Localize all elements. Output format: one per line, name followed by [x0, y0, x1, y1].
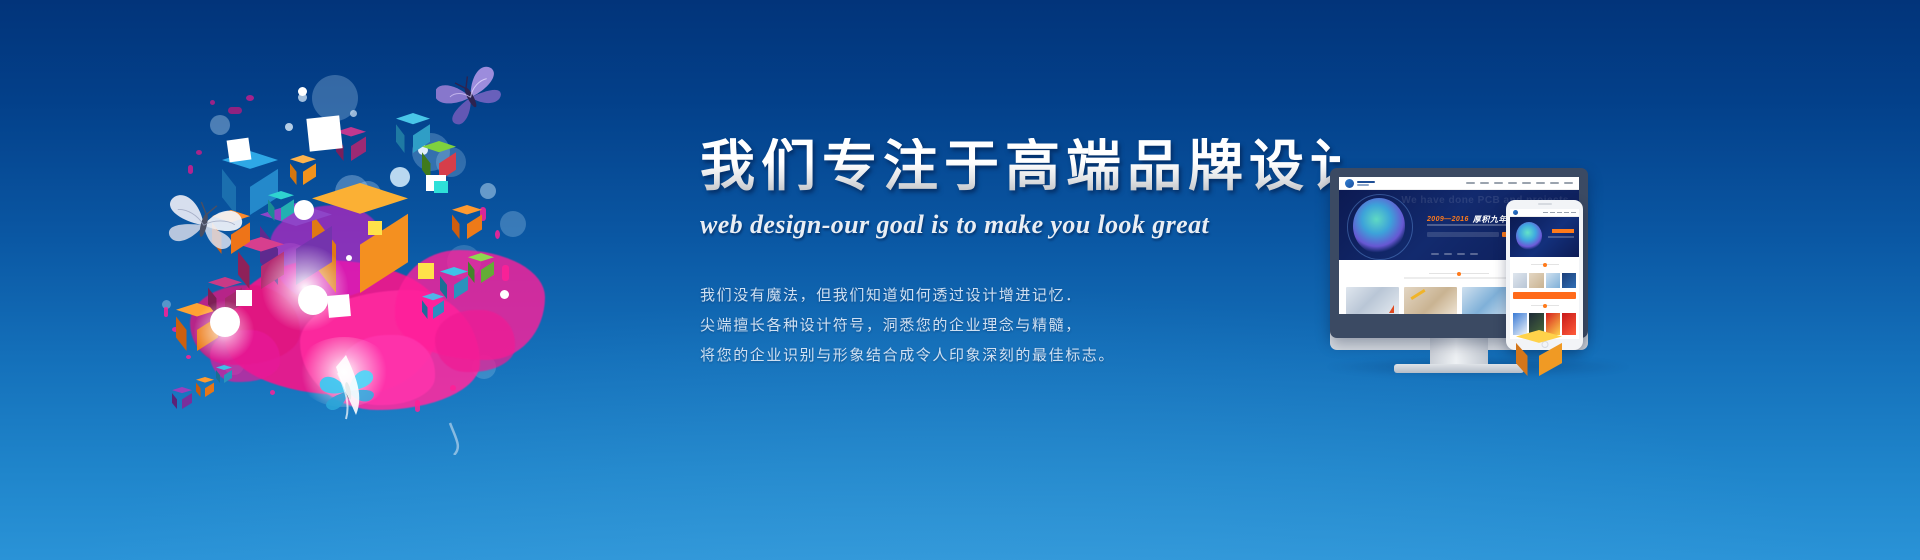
abstract-artwork — [150, 55, 570, 455]
card-item[interactable] — [1404, 287, 1457, 314]
phone-nav-item — [1564, 212, 1569, 214]
nav-item — [1522, 182, 1531, 184]
phone-hero-headline — [1552, 229, 1574, 233]
nav-item — [1550, 182, 1559, 184]
hero-cta-text — [1427, 232, 1499, 237]
slider-dot[interactable] — [1431, 253, 1439, 255]
description-paragraph: 我们没有魔法，但我们知道如何透过设计增进记忆． 尖端擅长各种设计符号，洞悉您的企… — [700, 280, 1340, 370]
hero-slider-dots[interactable] — [1431, 253, 1478, 255]
hero-banner: 我们专注于高端品牌设计 web design-our goal is to ma… — [0, 0, 1920, 560]
site-nav-menu — [1466, 182, 1573, 184]
site-logo-wordmark — [1357, 181, 1375, 186]
phone-cta-band[interactable] — [1513, 292, 1576, 299]
device-mockups: We have done PCB and projects 2009—2016 … — [1320, 160, 1650, 390]
nav-item — [1480, 182, 1489, 184]
section-title — [1458, 265, 1459, 270]
site-logo-icon — [1345, 179, 1354, 188]
description-line-1: 我们没有魔法，但我们知道如何透过设计增进记忆． — [700, 280, 1340, 310]
phone-nav-item — [1543, 212, 1548, 214]
description-line-3: 将您的企业识别与形象结合成令人印象深刻的最佳标志。 — [700, 340, 1340, 370]
phone-screen — [1510, 209, 1579, 339]
phone-card[interactable] — [1546, 273, 1560, 288]
phone-card[interactable] — [1513, 273, 1527, 288]
butterfly-white-icon — [160, 191, 246, 257]
monitor-stand-neck — [1430, 338, 1488, 366]
phone-lightbulb-graphic — [1516, 222, 1542, 250]
section-divider — [1429, 273, 1489, 274]
phone-nav-menu — [1543, 212, 1576, 214]
nav-item — [1564, 182, 1573, 184]
card-item[interactable] — [1346, 287, 1399, 314]
phone-nav-item — [1571, 212, 1576, 214]
section-subtitle — [1404, 277, 1514, 279]
mobile-phone-mockup — [1506, 200, 1583, 350]
slider-dot[interactable] — [1457, 253, 1465, 255]
phone-nav-item — [1550, 212, 1555, 214]
phone-hero-banner — [1510, 217, 1579, 257]
floating-orange-cube — [1516, 330, 1562, 376]
phone-navbar — [1510, 209, 1579, 217]
butterfly-layer — [150, 55, 570, 455]
phone-card[interactable] — [1529, 273, 1543, 288]
phone-section-header — [1510, 257, 1579, 270]
hero-years-number: 2009—2016 — [1427, 216, 1469, 223]
phone-section-divider — [1531, 264, 1559, 265]
nav-item — [1494, 182, 1503, 184]
phone-card-grid — [1510, 270, 1579, 288]
phone-hero-subline — [1548, 236, 1574, 238]
phone-nav-item — [1557, 212, 1562, 214]
phone-section-divider-2 — [1531, 305, 1559, 306]
phone-thumb[interactable] — [1562, 313, 1576, 335]
butterfly-purple-icon — [436, 65, 506, 127]
nav-item — [1466, 182, 1475, 184]
hero-cta-row — [1427, 232, 1518, 237]
nav-item — [1508, 182, 1517, 184]
nav-item — [1536, 182, 1545, 184]
phone-logo-icon — [1513, 210, 1518, 215]
butterfly-cyan-icon — [318, 365, 378, 415]
subtitle: web design-our goal is to make you look … — [700, 210, 1340, 240]
page-title: 我们专注于高端品牌设计 — [700, 138, 1340, 196]
phone-section-header-2 — [1510, 299, 1579, 311]
phone-card[interactable] — [1562, 273, 1576, 288]
copy-block: 我们专注于高端品牌设计 web design-our goal is to ma… — [700, 138, 1340, 370]
slider-dot[interactable] — [1470, 253, 1478, 255]
description-line-2: 尖端擅长各种设计符号，洞悉您的企业理念与精髓， — [700, 310, 1340, 340]
slider-dot[interactable] — [1444, 253, 1452, 255]
site-navbar — [1339, 177, 1579, 190]
monitor-stand-base — [1394, 364, 1524, 373]
lightbulb-mesh-graphic — [1353, 198, 1405, 254]
phone-speaker — [1538, 203, 1552, 205]
